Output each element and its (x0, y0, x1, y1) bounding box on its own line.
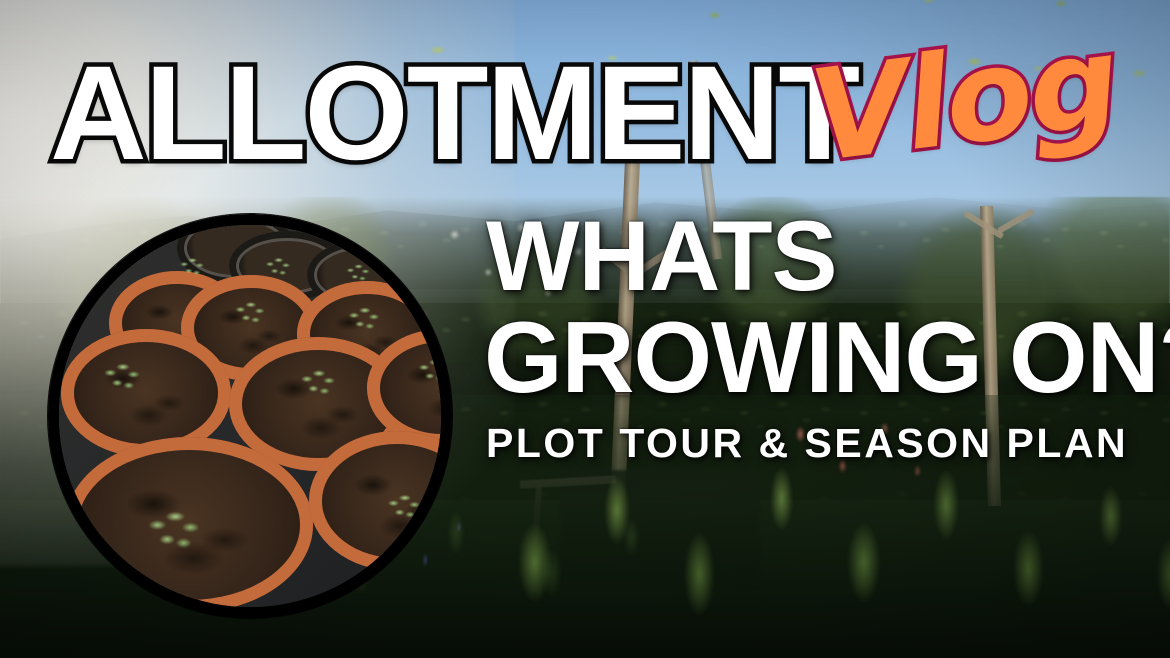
page-title: ALLOTMENT (50, 47, 858, 181)
seedling-pots-inset (48, 214, 452, 618)
seedling (261, 253, 294, 282)
video-thumbnail: ALLOTMENT Vlog WHATS GROWING ON? PLOT TO… (0, 0, 1170, 658)
seedling (342, 259, 373, 286)
seedling (140, 501, 209, 561)
seedling (230, 296, 270, 330)
headline-line-2: WHATS (486, 206, 837, 305)
seedling (98, 356, 146, 398)
seedling (343, 301, 384, 337)
seedling (382, 488, 426, 526)
headline-line-3: GROWING ON? (484, 308, 1170, 409)
subtitle: PLOT TOUR & SEASON PLAN (486, 420, 1128, 467)
seedling (295, 363, 341, 403)
seedling (176, 253, 208, 281)
seedling-pots-photo (59, 225, 441, 607)
